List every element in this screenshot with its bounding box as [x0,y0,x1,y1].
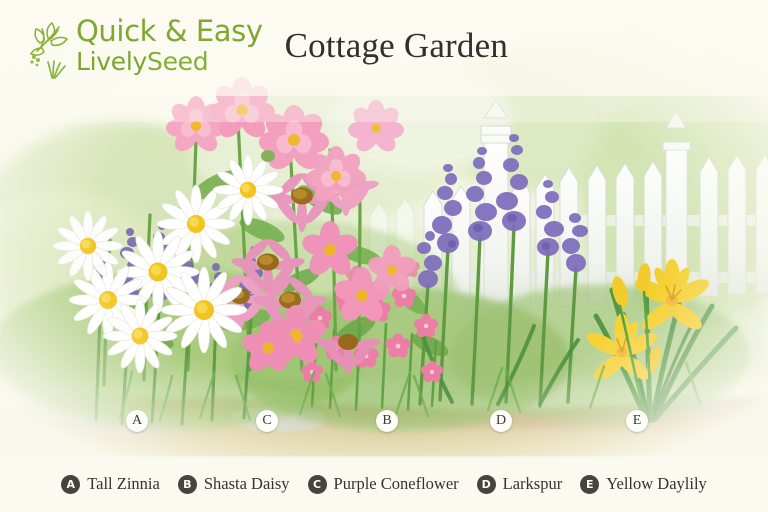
legend-label: Tall Zinnia [87,474,160,494]
cottage-garden-card: Quick & Easy LivelySeed Cottage Garden A… [0,0,768,512]
legend-badge: B [178,475,197,494]
grass-tuft-icon [48,61,65,78]
legend: ATall ZinniaBShasta DaisyCPurple Coneflo… [0,456,768,512]
legend-item-c[interactable]: CPurple Coneflower [308,474,459,494]
brand-name: LivelySeed [76,49,263,74]
legend-label: Shasta Daisy [204,474,290,494]
map-marker-c[interactable]: C [256,410,278,432]
legend-label: Larkspur [503,474,563,494]
map-marker-a[interactable]: A [126,410,148,432]
brand-name-part1: Lively [76,47,147,76]
brand-tagline: Quick & Easy [76,17,263,46]
legend-label: Purple Coneflower [334,474,459,494]
legend-item-e[interactable]: EYellow Daylily [580,474,707,494]
legend-item-b[interactable]: BShasta Daisy [178,474,290,494]
legend-item-d[interactable]: DLarkspur [477,474,563,494]
brand-text: Quick & Easy LivelySeed [76,17,263,74]
legend-badge: D [477,475,496,494]
legend-badge: A [61,475,80,494]
header: Quick & Easy LivelySeed Cottage Garden [0,0,768,96]
brand-lockup: Quick & Easy LivelySeed [28,17,263,79]
map-marker-e[interactable]: E [626,410,648,432]
legend-item-a[interactable]: ATall Zinnia [61,474,160,494]
legend-label: Yellow Daylily [606,474,707,494]
page-title: Cottage Garden [285,26,508,66]
legend-badge: C [308,475,327,494]
map-marker-d[interactable]: D [490,410,512,432]
map-marker-b[interactable]: B [376,410,398,432]
leaf-sprig-icon [28,21,72,79]
legend-badge: E [580,475,599,494]
brand-name-part2: Seed [147,47,208,76]
